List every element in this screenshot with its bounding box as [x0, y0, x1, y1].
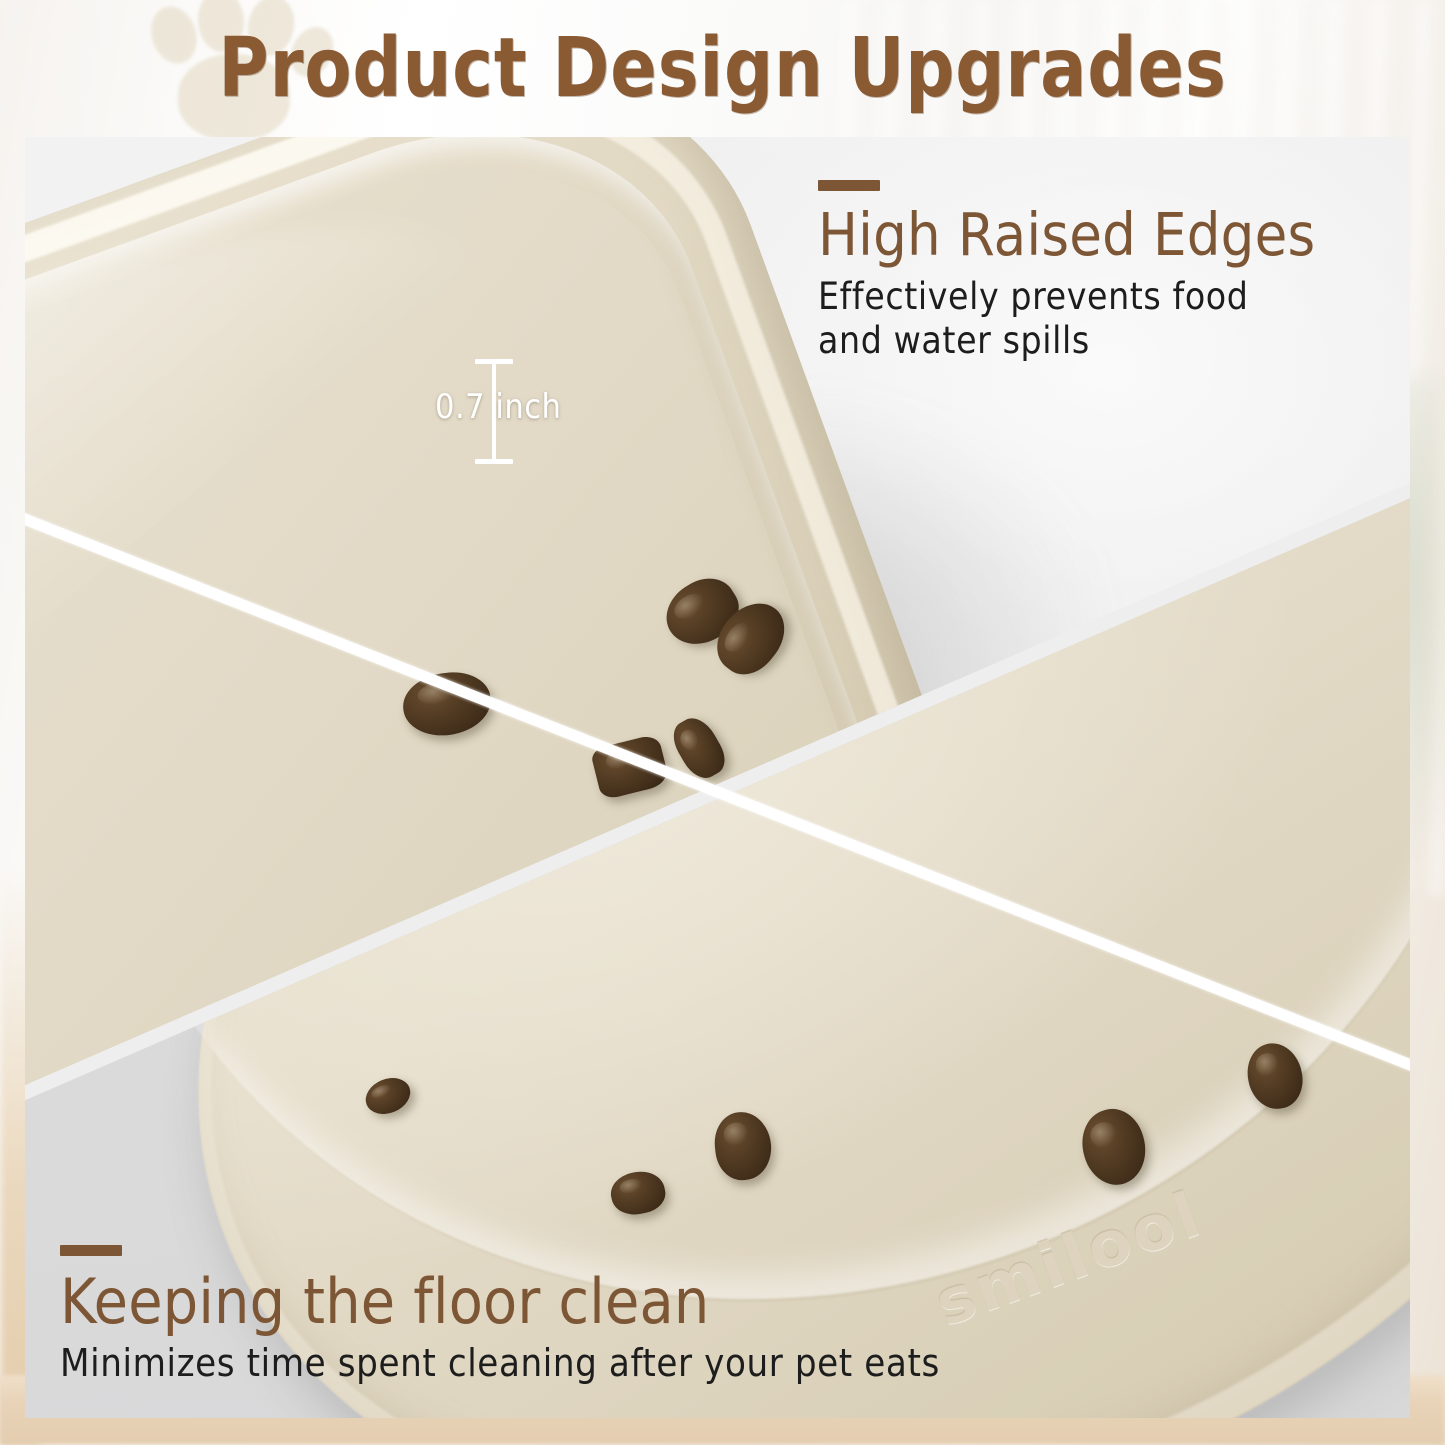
- accent-bar-icon: [818, 180, 880, 191]
- feature-subtitle: Effectively prevents food and water spil…: [818, 275, 1315, 362]
- feature-title: Keeping the floor clean: [60, 1270, 940, 1333]
- feature-high-raised-edges: High Raised Edges Effectively prevents f…: [818, 180, 1315, 362]
- header: Product Design Upgrades: [0, 0, 1445, 137]
- feature-subtitle-line: Effectively prevents food: [818, 275, 1315, 319]
- feature-subtitle: Minimizes time spent cleaning after your…: [60, 1341, 940, 1386]
- dimension-cap-bottom: [475, 459, 513, 464]
- dimension-callout: 0.7 inch: [457, 359, 627, 471]
- accent-bar-icon: [60, 1245, 122, 1256]
- feature-subtitle-line: and water spills: [818, 319, 1315, 363]
- dimension-label: 0.7 inch: [435, 387, 561, 427]
- feature-keeping-floor-clean: Keeping the floor clean Minimizes time s…: [60, 1245, 940, 1386]
- page-title: Product Design Upgrades: [51, 0, 1395, 137]
- infographic-canvas: Product Design Upgrades: [0, 0, 1445, 1445]
- feature-title: High Raised Edges: [818, 205, 1315, 265]
